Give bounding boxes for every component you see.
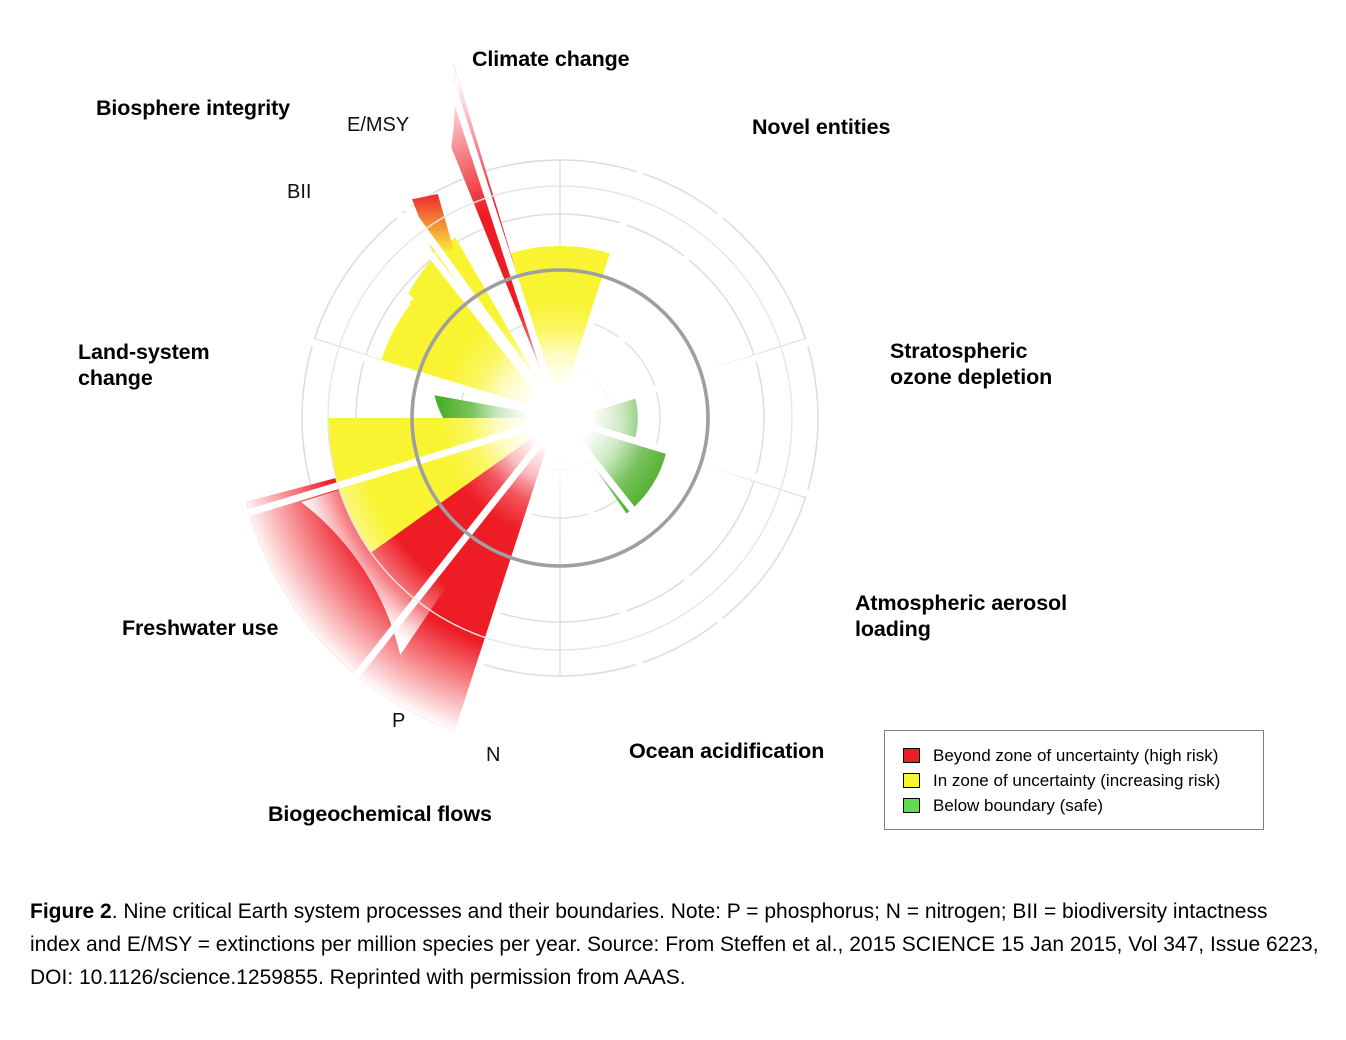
label-biosphere-integrity: Biosphere integrity (96, 95, 290, 121)
label-nitrogen: N (486, 743, 500, 767)
label-land-system-change: Land-system change (78, 339, 210, 391)
figure-caption-text: . Nine critical Earth system processes a… (30, 900, 1319, 989)
legend-swatch-high-risk (903, 748, 920, 763)
label-climate-change: Climate change (472, 46, 630, 72)
planetary-boundaries-diagram: Climate change Novel entities Stratosphe… (0, 0, 1346, 870)
legend-item-uncertainty: In zone of uncertainty (increasing risk) (903, 768, 1263, 793)
label-stratospheric-ozone-depletion: Stratospheric ozone depletion (890, 338, 1052, 390)
figure-caption: Figure 2. Nine critical Earth system pro… (30, 895, 1320, 994)
legend-swatch-uncertainty (903, 773, 920, 788)
legend-item-high-risk: Beyond zone of uncertainty (high risk) (903, 743, 1263, 768)
legend-label-safe: Below boundary (safe) (933, 796, 1103, 815)
legend-label-uncertainty: In zone of uncertainty (increasing risk) (933, 771, 1220, 790)
legend-box: Beyond zone of uncertainty (high risk) I… (884, 730, 1264, 830)
label-atmospheric-aerosol-loading: Atmospheric aerosol loading (855, 590, 1067, 642)
legend-swatch-safe (903, 798, 920, 813)
label-freshwater-use: Freshwater use (122, 615, 278, 641)
center-glow (440, 298, 680, 538)
label-emsy: E/MSY (347, 113, 409, 137)
figure-number: Figure 2 (30, 900, 112, 923)
legend-item-safe: Below boundary (safe) (903, 793, 1263, 818)
label-bii: BII (287, 180, 311, 204)
figure-container: Climate change Novel entities Stratosphe… (0, 0, 1346, 1040)
legend-label-high-risk: Beyond zone of uncertainty (high risk) (933, 746, 1218, 765)
label-ocean-acidification: Ocean acidification (629, 738, 824, 764)
label-phosphorus: P (392, 709, 405, 733)
label-novel-entities: Novel entities (752, 114, 890, 140)
label-biogeochemical-flows: Biogeochemical flows (268, 801, 492, 827)
